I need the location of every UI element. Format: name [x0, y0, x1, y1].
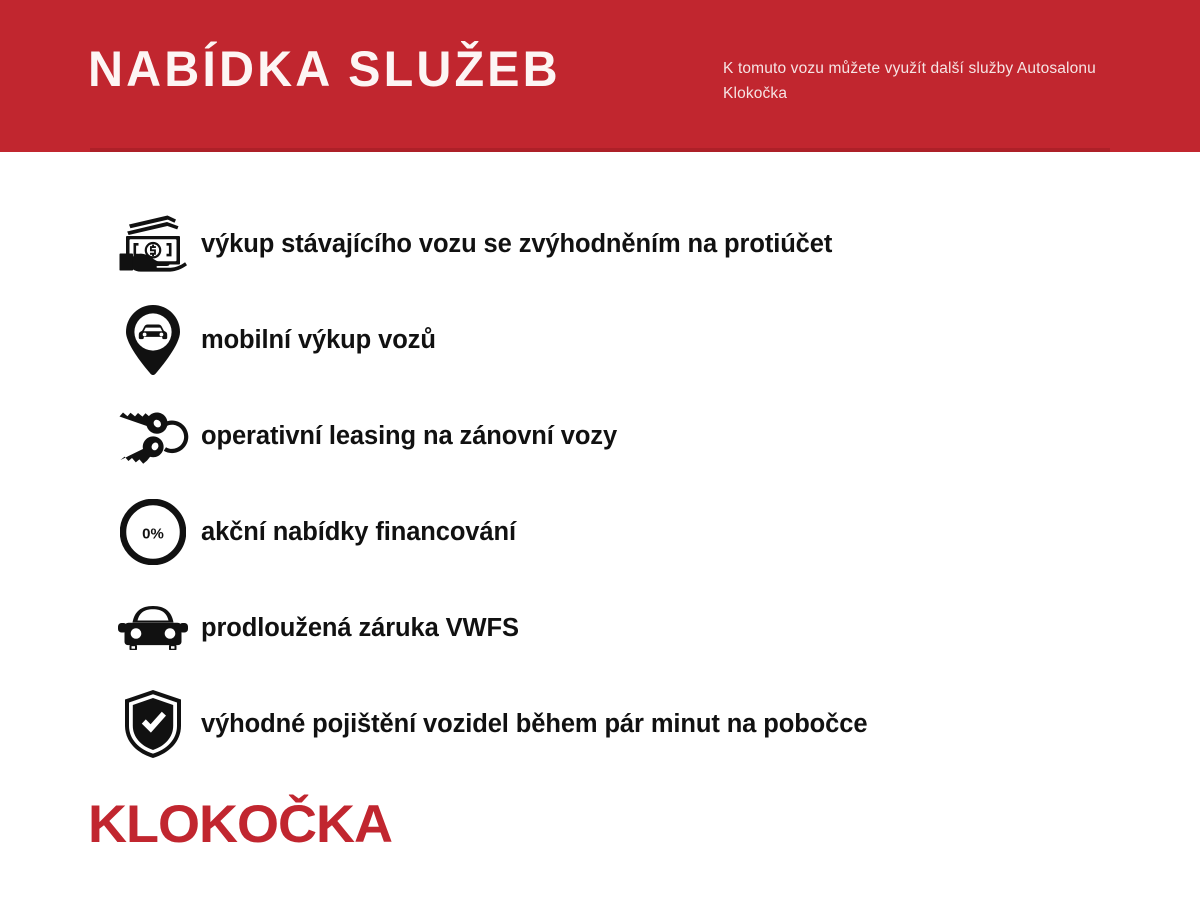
klokocka-logo: KLOKOČKA — [88, 792, 468, 848]
list-item: výkup stávajícího vozu se zvýhodněním na… — [0, 196, 1200, 292]
zero-percent-circle-icon: 0% — [117, 494, 189, 570]
service-label: mobilní výkup vozů — [201, 326, 436, 354]
car-front-icon — [117, 590, 189, 666]
header-divider — [90, 148, 1110, 152]
header-subtitle: K tomuto vozu můžete využít další služby… — [723, 56, 1123, 106]
klokocka-logo-text: KLOKOČKA — [88, 793, 392, 853]
service-label: výkup stávajícího vozu se zvýhodněním na… — [201, 230, 832, 258]
list-item: výhodné pojištění vozidel během pár minu… — [0, 676, 1200, 772]
service-label: operativní leasing na zánovní vozy — [201, 422, 617, 450]
list-item: mobilní výkup vozů — [0, 292, 1200, 388]
service-label: prodloužená záruka VWFS — [201, 614, 519, 642]
list-item: 0% akční nabídky financování — [0, 484, 1200, 580]
list-item: prodloužená záruka VWFS — [0, 580, 1200, 676]
service-label: akční nabídky financování — [201, 518, 516, 546]
car-keys-icon — [117, 398, 189, 474]
services-list: výkup stávajícího vozu se zvýhodněním na… — [0, 196, 1200, 772]
shield-check-icon — [117, 686, 189, 762]
header-content: NABÍDKA SLUŽEB K tomuto vozu můžete využ… — [0, 0, 1200, 152]
page-title: NABÍDKA SLUŽEB — [88, 44, 561, 94]
zero-percent-label: 0% — [142, 526, 164, 543]
list-item: operativní leasing na zánovní vozy — [0, 388, 1200, 484]
cash-in-hand-icon — [117, 206, 189, 282]
map-pin-car-icon — [117, 302, 189, 378]
header-banner: NABÍDKA SLUŽEB K tomuto vozu můžete využ… — [0, 0, 1200, 152]
klokocka-logo-mark: KLOKOČKA — [88, 792, 468, 856]
service-label: výhodné pojištění vozidel během pár minu… — [201, 710, 867, 738]
